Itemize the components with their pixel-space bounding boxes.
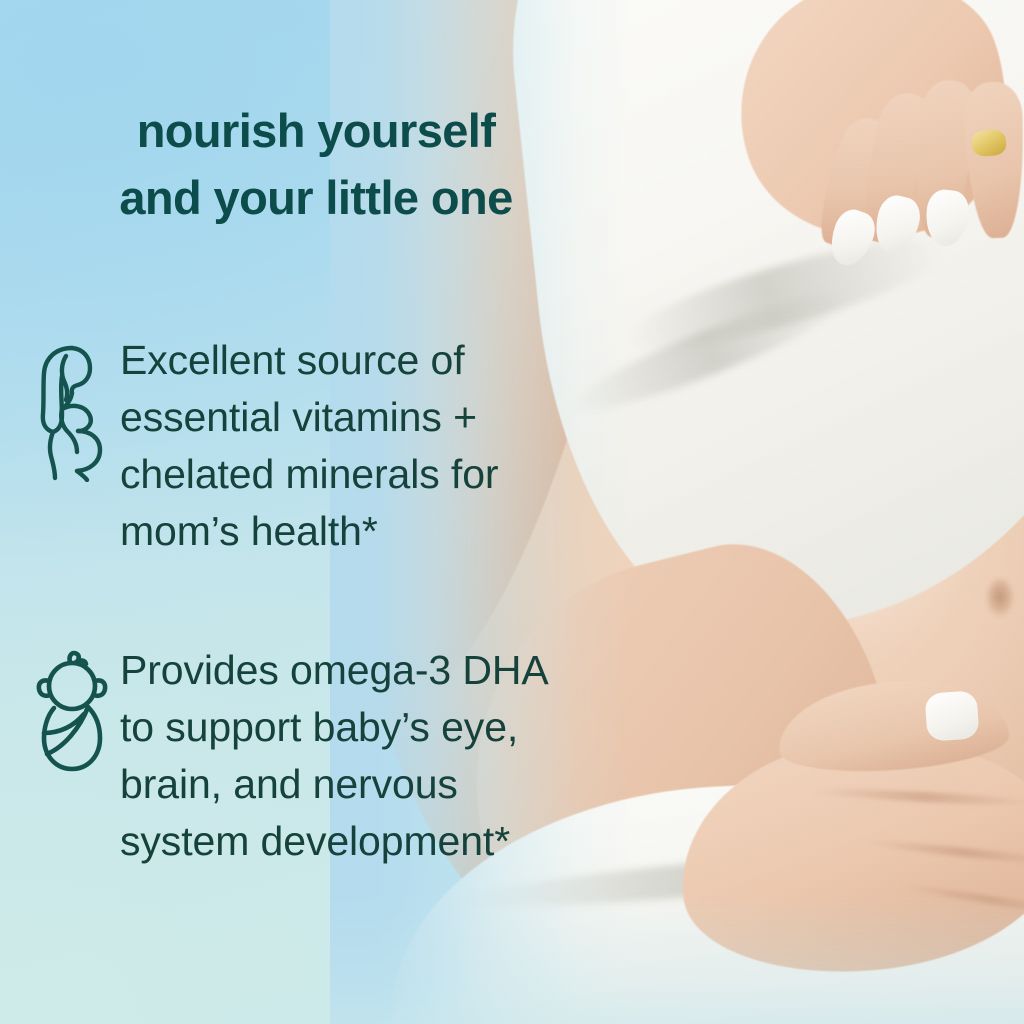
content-layer: nourish yourself and your little one <box>0 0 1024 1024</box>
marketing-graphic: nourish yourself and your little one <box>0 0 1024 1024</box>
benefit-line: Provides omega-3 DHA <box>120 642 590 699</box>
benefit-line: chelated minerals for <box>120 446 590 503</box>
benefit-text: Excellent source of essential vitamins +… <box>120 332 590 560</box>
headline-line-1: nourish yourself <box>36 98 596 165</box>
swaddled-baby-icon <box>24 642 120 792</box>
headline-line-2: and your little one <box>36 165 596 232</box>
benefit-item: Excellent source of essential vitamins +… <box>24 332 590 560</box>
benefit-line: mom’s health* <box>120 503 590 560</box>
benefit-line: to support baby’s eye, <box>120 699 590 756</box>
benefit-line: Excellent source of <box>120 332 590 389</box>
benefit-item: Provides omega-3 DHA to support baby’s e… <box>24 642 590 870</box>
benefit-line: brain, and nervous <box>120 756 590 813</box>
benefit-line: system development* <box>120 813 590 870</box>
benefit-line: essential vitamins + <box>120 389 590 446</box>
benefit-text: Provides omega-3 DHA to support baby’s e… <box>120 642 590 870</box>
page-title: nourish yourself and your little one <box>36 98 596 231</box>
pregnant-woman-icon <box>24 332 120 482</box>
